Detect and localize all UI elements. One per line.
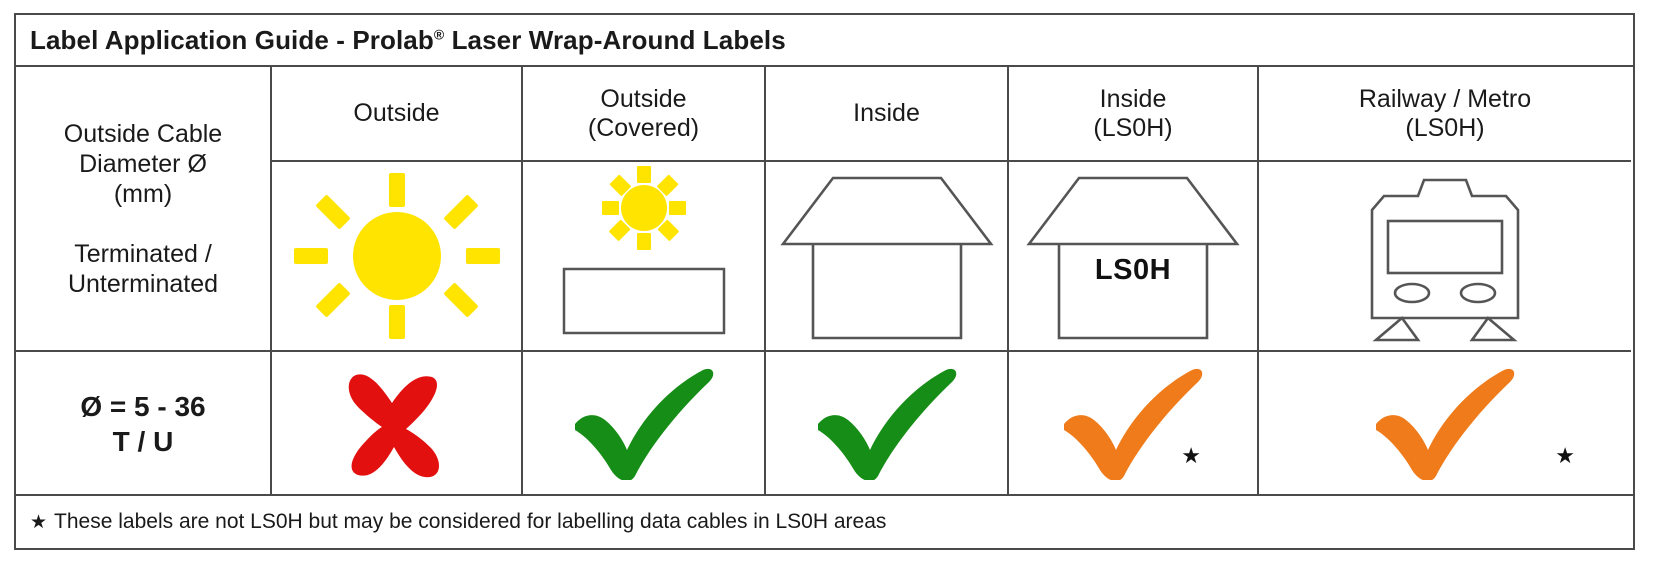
- result-cell-inside: [766, 352, 1009, 495]
- footnote-row: ★These labels are not LS0H but may be co…: [16, 494, 1633, 548]
- guide-grid: Outside Cable Diameter Ø (mm) Terminated…: [16, 67, 1633, 495]
- footnote-text: These labels are not LS0H but may be con…: [54, 510, 886, 533]
- page-title-suffix: Laser Wrap-Around Labels: [444, 25, 786, 55]
- cross-icon: [338, 369, 456, 479]
- column-header-inside-lsoh: Inside (LS0H): [1009, 67, 1259, 162]
- result-cell-outside-covered: [523, 352, 766, 495]
- cable-diameter-heading-line2: Diameter Ø: [64, 149, 222, 179]
- icon-cell-railway-metro: [1259, 162, 1631, 352]
- house-icon: [779, 172, 995, 340]
- cable-diameter-heading-line1: Outside Cable: [64, 119, 222, 149]
- column-header-railway-line2: (LS0H): [1359, 114, 1531, 143]
- check-icon: [1370, 368, 1520, 480]
- footnote-star-marker: ★: [1181, 443, 1201, 469]
- cable-diameter-heading-line3: (mm): [64, 179, 222, 209]
- termination-heading: Terminated / Unterminated: [68, 239, 218, 299]
- column-header-inside-line1: Inside: [853, 99, 920, 128]
- icon-cell-outside: [272, 162, 523, 352]
- first-column-header: Outside Cable Diameter Ø (mm) Terminated…: [16, 67, 272, 352]
- column-header-inside-lsoh-line1: Inside: [1093, 85, 1172, 114]
- termination-value: T / U: [113, 424, 174, 459]
- check-icon: [812, 368, 962, 480]
- lsoh-icon-label: LS0H: [1095, 254, 1171, 287]
- column-header-outside-line1: Outside: [353, 99, 439, 128]
- train-icon: [1360, 170, 1530, 342]
- footnote: ★These labels are not LS0H but may be co…: [30, 510, 886, 534]
- result-cell-railway-metro: ★: [1259, 352, 1631, 495]
- termination-heading-line2: Unterminated: [68, 269, 218, 299]
- result-cell-outside: [272, 352, 523, 495]
- column-header-inside-lsoh-line2: (LS0H): [1093, 114, 1172, 143]
- sun-with-cover-icon: [544, 166, 744, 346]
- footnote-star-marker: ★: [1555, 443, 1575, 469]
- column-header-railway-line1: Railway / Metro: [1359, 85, 1531, 114]
- column-header-outside-covered-line2: (Covered): [588, 114, 699, 143]
- termination-heading-line1: Terminated /: [68, 239, 218, 269]
- sun-icon: [292, 171, 502, 341]
- column-header-inside: Inside: [766, 67, 1009, 162]
- icon-cell-outside-covered: [523, 162, 766, 352]
- guide-title-row: Label Application Guide - Prolab® Laser …: [16, 15, 1633, 67]
- column-header-outside-covered-line1: Outside: [588, 85, 699, 114]
- column-header-railway-metro-lsoh: Railway / Metro (LS0H): [1259, 67, 1631, 162]
- column-header-outside: Outside: [272, 67, 523, 162]
- page-title-prefix: Label Application Guide - Prolab: [30, 25, 434, 55]
- footnote-star-icon: ★: [30, 512, 47, 533]
- cover-rect-icon: [564, 269, 724, 333]
- cable-diameter-heading: Outside Cable Diameter Ø (mm): [64, 119, 222, 209]
- registered-trademark-symbol: ®: [434, 26, 444, 42]
- check-icon: [569, 368, 719, 480]
- page-title: Label Application Guide - Prolab® Laser …: [30, 25, 786, 56]
- label-application-guide-table: Label Application Guide - Prolab® Laser …: [14, 13, 1635, 550]
- column-header-outside-covered: Outside (Covered): [523, 67, 766, 162]
- icon-cell-inside: [766, 162, 1009, 352]
- diameter-cell: Ø = 5 - 36 T / U: [16, 352, 272, 495]
- result-cell-inside-lsoh: ★: [1009, 352, 1259, 495]
- icon-cell-inside-lsoh: LS0H: [1009, 162, 1259, 352]
- diameter-value: Ø = 5 - 36: [80, 389, 205, 424]
